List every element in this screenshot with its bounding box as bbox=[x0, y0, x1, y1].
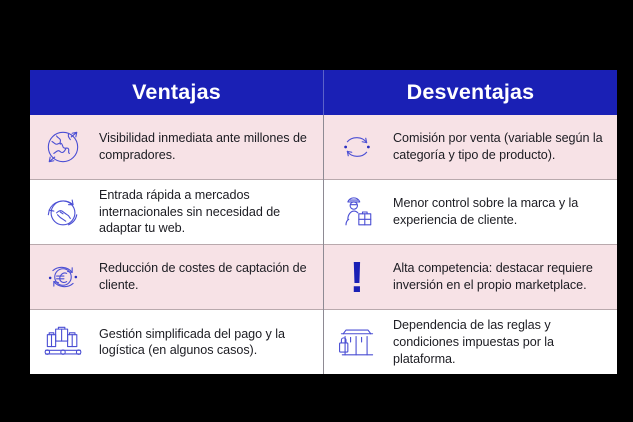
column-header-ventajas: Ventajas bbox=[30, 70, 324, 115]
header-row: Ventajas Desventajas bbox=[30, 70, 617, 115]
cell-text: Dependencia de las reglas y condiciones … bbox=[393, 317, 607, 367]
cell-text: Gestión simplificada del pago y la logís… bbox=[99, 326, 313, 359]
delivery-person-box-icon bbox=[330, 187, 384, 237]
column-header-desventajas: Desventajas bbox=[324, 70, 618, 115]
globe-world-icon bbox=[36, 122, 90, 172]
comparison-table: Ventajas Desventajas bbox=[30, 70, 617, 374]
table-row: Gestión simplificada del pago y la logís… bbox=[30, 310, 617, 375]
cell-text: Comisión por venta (variable según la ca… bbox=[393, 130, 607, 163]
table-body: Visibilidad inmediata ante millones de c… bbox=[30, 115, 617, 374]
euro-cycle-icon bbox=[36, 252, 90, 302]
cell-advantage-3: Reducción de costes de captación de clie… bbox=[30, 245, 324, 310]
table-head: Ventajas Desventajas bbox=[30, 70, 617, 115]
cell-disadvantage-4: Dependencia de las reglas y condiciones … bbox=[324, 310, 618, 375]
table-row: Visibilidad inmediata ante millones de c… bbox=[30, 115, 617, 180]
cell-disadvantage-2: Menor control sobre la marca y la experi… bbox=[324, 180, 618, 245]
table-row: Entrada rápida a mercados internacionale… bbox=[30, 180, 617, 245]
comparison-table-container: Ventajas Desventajas bbox=[30, 70, 617, 345]
cell-disadvantage-1: Comisión por venta (variable según la ca… bbox=[324, 115, 618, 180]
circular-arrows-icon bbox=[330, 122, 384, 172]
cell-text: Visibilidad inmediata ante millones de c… bbox=[99, 130, 313, 163]
cell-text: Entrada rápida a mercados internacionale… bbox=[99, 187, 313, 237]
cell-advantage-1: Visibilidad inmediata ante millones de c… bbox=[30, 115, 324, 180]
handshake-circle-icon bbox=[36, 187, 90, 237]
table-row: Reducción de costes de captación de clie… bbox=[30, 245, 617, 310]
cell-text: Menor control sobre la marca y la experi… bbox=[393, 195, 607, 228]
cell-advantage-2: Entrada rápida a mercados internacionale… bbox=[30, 180, 324, 245]
cell-advantage-4: Gestión simplificada del pago y la logís… bbox=[30, 310, 324, 375]
cell-text: Alta competencia: destacar requiere inve… bbox=[393, 260, 607, 293]
cell-disadvantage-3: ! Alta competencia: destacar requiere in… bbox=[324, 245, 618, 310]
exclamation-mark-icon: ! bbox=[330, 252, 384, 302]
exclamation-glyph: ! bbox=[350, 260, 365, 295]
storefront-icon bbox=[330, 317, 384, 367]
cell-text: Reducción de costes de captación de clie… bbox=[99, 260, 313, 293]
conveyor-belt-boxes-icon bbox=[36, 317, 90, 367]
